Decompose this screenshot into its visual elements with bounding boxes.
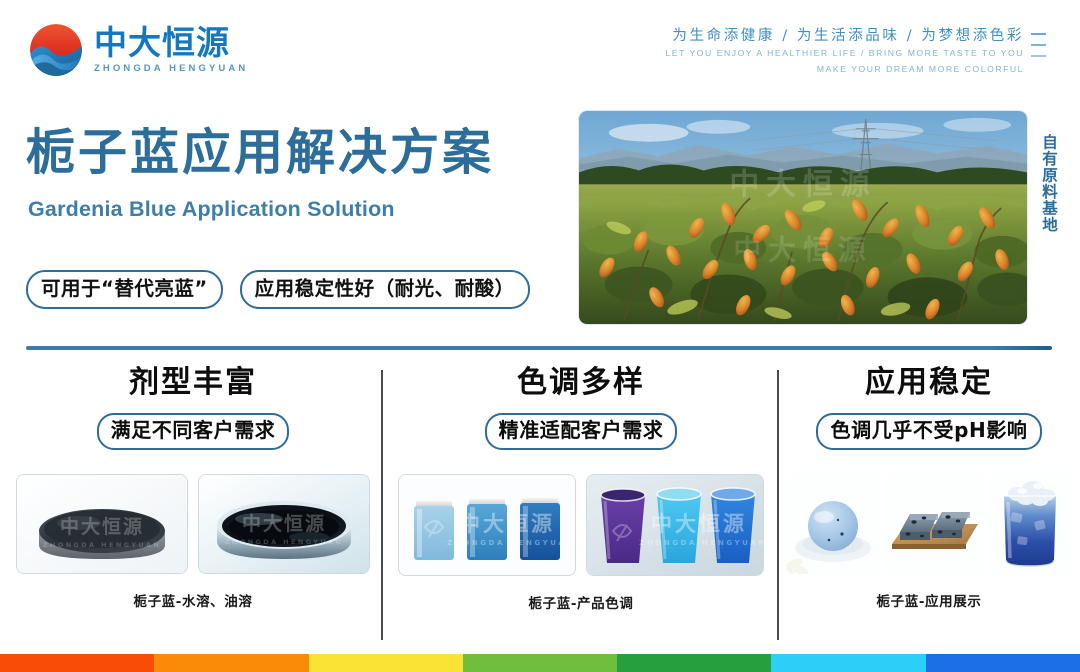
- rainbow-segment-4: [463, 654, 617, 672]
- gardenia-plantation-photo: 中大恒源 中大恒源: [578, 110, 1028, 325]
- dash-line-icon: [1031, 55, 1046, 57]
- rainbow-footer-bar: [0, 654, 1080, 672]
- section-divider: [26, 346, 1052, 350]
- rainbow-segment-5: [617, 654, 771, 672]
- column-pill[interactable]: 满足不同客户需求: [97, 413, 290, 450]
- feature-column-color-tones: 色调多样 精准适配客户需求: [386, 356, 776, 646]
- slogan-text: 为生命添健康 / 为生活添品味 / 为梦想添色彩 LET YOU ENJOY A…: [665, 27, 1024, 78]
- svg-text:ZHONGDA HENGYUAN: ZHONGDA HENGYUAN: [43, 541, 161, 549]
- column-caption: 栀子蓝-水溶、油溶: [6, 590, 380, 610]
- svg-text:中大恒源: 中大恒源: [729, 167, 876, 202]
- own-raw-material-base-label: 自有原料基地: [1036, 134, 1060, 233]
- page-title: 栀子蓝应用解决方案: [26, 128, 494, 177]
- svg-text:中大恒源: 中大恒源: [60, 515, 144, 538]
- svg-text:中大恒源: 中大恒源: [459, 512, 555, 536]
- rainbow-segment-2: [154, 654, 308, 672]
- blue-iced-drink-glass-image: [988, 474, 1072, 574]
- column-images: 中大恒源 ZHONGDA HENGYUAN: [386, 474, 776, 576]
- blue-cake-slices-on-board-image: [884, 474, 984, 574]
- slogan-en-line2: MAKE YOUR DREAM MORE COLORFUL: [665, 61, 1024, 77]
- svg-text:ZHONGDA HENGYUAN: ZHONGDA HENGYUAN: [447, 539, 575, 547]
- rainbow-segment-7: [926, 654, 1080, 672]
- dash-line-icon: [1031, 44, 1046, 46]
- slogan-cn: 为生命添健康 / 为生活添品味 / 为梦想添色彩: [665, 27, 1024, 45]
- three-jars-blue-gradient-image: 中大恒源 ZHONGDA HENGYUAN: [398, 474, 576, 576]
- svg-text:中大恒源: 中大恒源: [733, 234, 872, 267]
- rainbow-segment-6: [771, 654, 925, 672]
- column-images: [782, 474, 1076, 574]
- column-caption: 栀子蓝-产品色调: [386, 592, 776, 612]
- slogan-en-line1: LET YOU ENJOY A HEALTHIER LIFE / BRING M…: [665, 45, 1024, 61]
- page-subtitle: Gardenia Blue Application Solution: [28, 197, 395, 222]
- blue-ice-cream-scoop-image: [786, 474, 880, 574]
- features-section: 剂型丰富 满足不同客户需求: [0, 356, 1080, 646]
- badge-application-stability[interactable]: 应用稳定性好（耐光、耐酸）: [240, 270, 530, 309]
- badge-substitute-brilliant-blue[interactable]: 可用于“替代亮蓝”: [26, 270, 223, 309]
- column-separator: [777, 370, 779, 640]
- three-glasses-purple-cyan-blue-image: 中大恒源 ZHONGDA HENGYUAN: [586, 474, 764, 576]
- column-title: 应用稳定: [782, 366, 1076, 399]
- slogan-block: 为生命添健康 / 为生活添品味 / 为梦想添色彩 LET YOU ENJOY A…: [665, 27, 1046, 78]
- gardenia-blue-powder-dish-matte-image: 中大恒源 ZHONGDA HENGYUAN: [16, 474, 188, 574]
- rainbow-segment-1: [0, 654, 154, 672]
- svg-text:ZHONGDA HENGYUAN: ZHONGDA HENGYUAN: [639, 539, 763, 547]
- column-separator: [381, 370, 383, 640]
- column-title: 色调多样: [386, 366, 776, 399]
- feature-column-application-stability: 应用稳定 色调几乎不受pH影响: [782, 356, 1076, 646]
- svg-text:中大恒源: 中大恒源: [242, 512, 326, 535]
- svg-text:中大恒源: 中大恒源: [651, 512, 747, 536]
- column-title: 剂型丰富: [6, 366, 380, 399]
- brand-name-cn: 中大恒源: [94, 26, 248, 61]
- column-pill[interactable]: 色调几乎不受pH影响: [816, 413, 1041, 450]
- page-header: 中大恒源 ZHONGDA HENGYUAN 为生命添健康 / 为生活添品味 / …: [0, 0, 1080, 100]
- column-images: 中大恒源 ZHONGDA HENGYUAN: [6, 474, 380, 574]
- dash-line-icon: [1031, 33, 1046, 35]
- hero-section: 栀子蓝应用解决方案 Gardenia Blue Application Solu…: [0, 100, 1080, 340]
- gardenia-blue-powder-dish-glossy-image: 中大恒源 ZHONGDA HENGYUAN: [198, 474, 370, 574]
- feature-column-dosage-forms: 剂型丰富 满足不同客户需求: [6, 356, 380, 646]
- brand-name-en: ZHONGDA HENGYUAN: [94, 63, 248, 74]
- brand-logo[interactable]: 中大恒源 ZHONGDA HENGYUAN: [30, 24, 248, 76]
- sun-over-waves-circle-logo-icon: [30, 24, 82, 76]
- column-pill[interactable]: 精准适配客户需求: [485, 413, 678, 450]
- brand-logo-text: 中大恒源 ZHONGDA HENGYUAN: [94, 26, 248, 75]
- slogan-dashes: [1031, 27, 1046, 57]
- hero-badges: 可用于“替代亮蓝” 应用稳定性好（耐光、耐酸）: [26, 270, 530, 309]
- rainbow-segment-3: [309, 654, 463, 672]
- column-caption: 栀子蓝-应用展示: [782, 590, 1076, 610]
- svg-text:ZHONGDA HENGYUAN: ZHONGDA HENGYUAN: [225, 538, 343, 546]
